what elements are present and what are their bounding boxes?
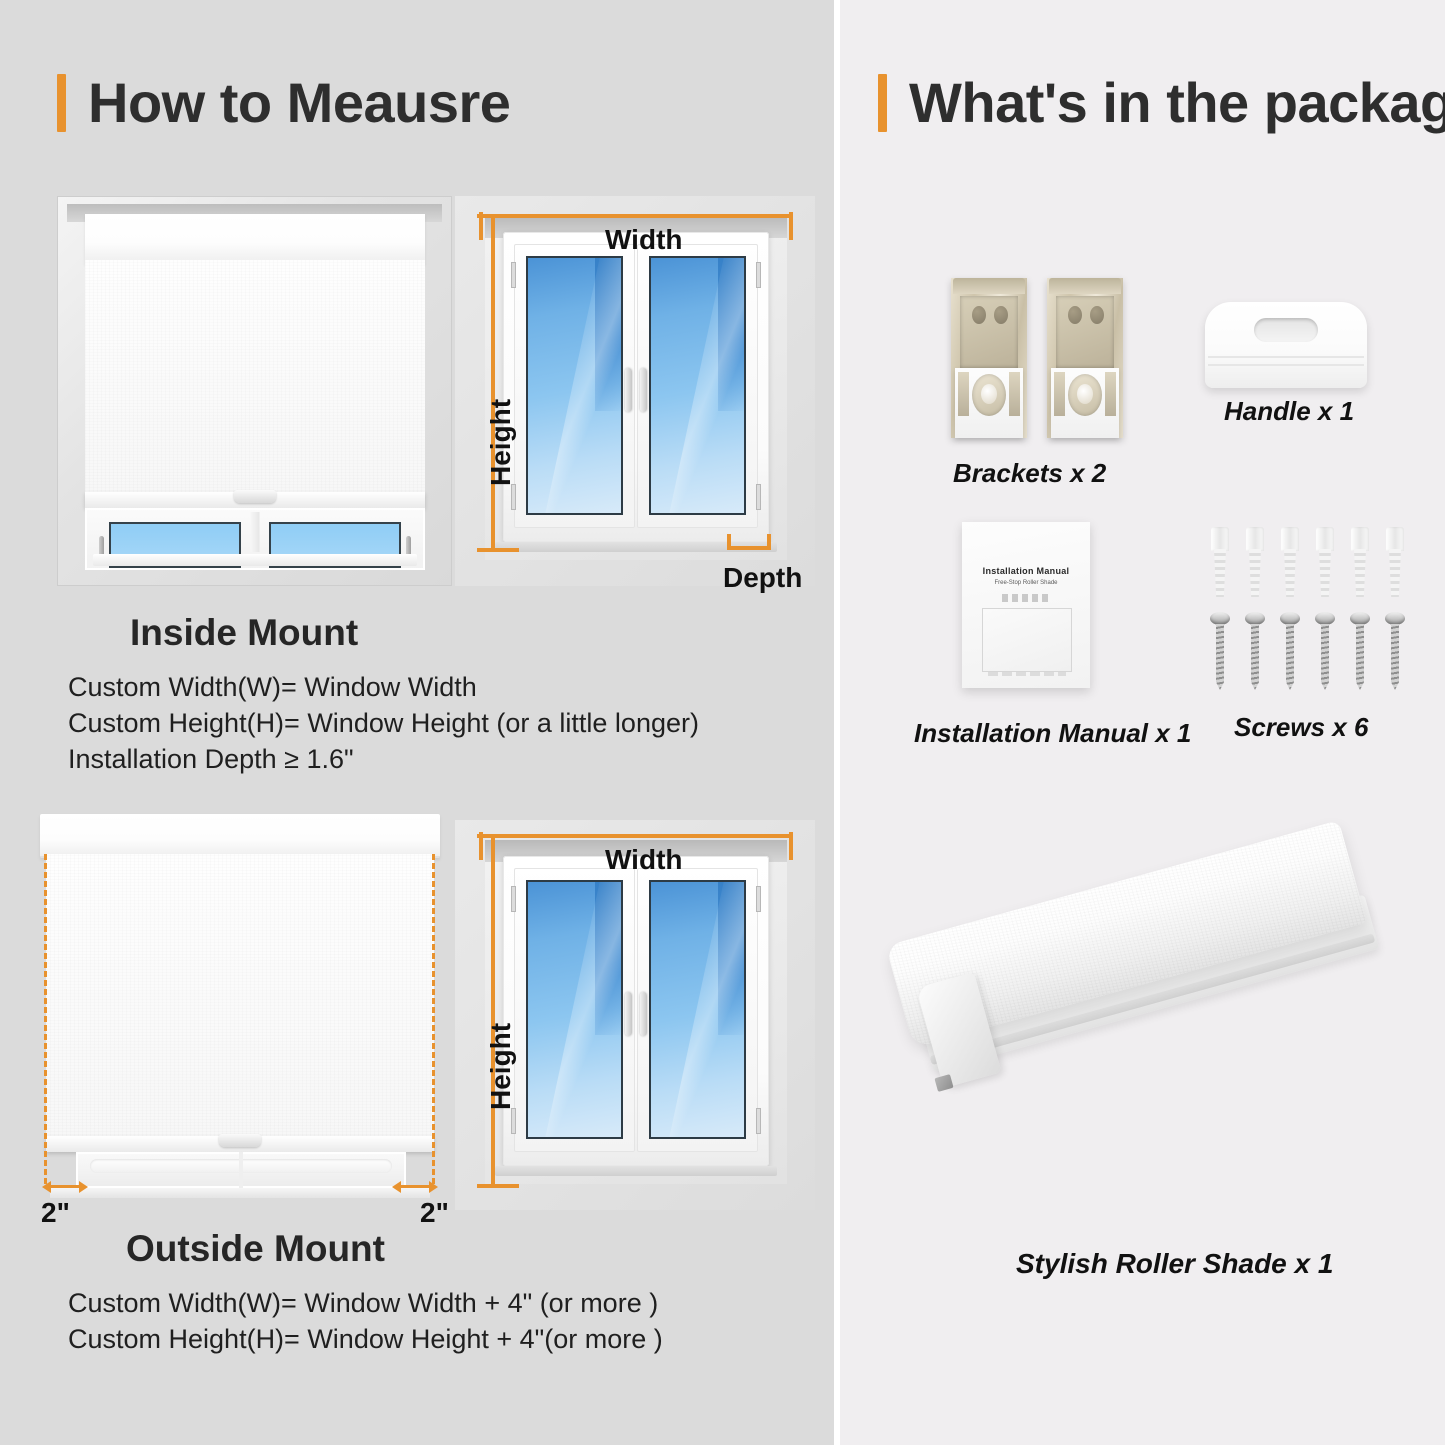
wall-anchor-icon-5 (1349, 527, 1371, 597)
window-handle-left-icon-2 (625, 992, 632, 1036)
height-measure-cap-top (477, 214, 519, 218)
wall-anchor-icon-4 (1314, 527, 1336, 597)
outside-window-mullion (239, 1152, 243, 1188)
infographic-page: How to Meausre (0, 0, 1445, 1445)
overhang-guide-left (44, 854, 47, 1184)
outside-window-ledge (50, 1188, 430, 1198)
manual-label: Installation Manual x 1 (914, 718, 1191, 749)
diagram-sash-left (514, 244, 635, 528)
diagram-window-frame (503, 232, 769, 542)
package-contents-panel: What's in the package (840, 0, 1445, 1445)
depth-measure-cap-inner (727, 534, 731, 550)
screw-icon-1 (1210, 612, 1230, 690)
manual-cover-footer (988, 672, 1066, 676)
diagram-glass-left-2 (526, 880, 623, 1139)
diagram-glass-right-2 (649, 880, 746, 1139)
handle-icon (1205, 302, 1367, 388)
diagram-sash-right-2 (637, 868, 758, 1152)
hinge-bottom-right-icon (756, 484, 761, 510)
overhang-label-right: 2" (420, 1197, 449, 1229)
screw-icon-2 (1245, 612, 1265, 690)
hinge-bottom-left-icon-2 (511, 1108, 516, 1134)
outside-mount-title: Outside Mount (126, 1228, 385, 1270)
height-measure-cap-top-2 (477, 834, 519, 838)
window-sill (93, 554, 417, 566)
outside-shade-headrail (40, 814, 440, 858)
diagram-window-frame-2 (503, 856, 769, 1166)
diagram-glass-right (649, 256, 746, 515)
outside-shade-fabric (46, 854, 434, 1138)
wall-anchor-icon-6 (1384, 527, 1406, 597)
diagram-glass-left (526, 256, 623, 515)
how-to-measure-panel: How to Meausre (0, 0, 834, 1445)
manual-cover-scribble (1002, 594, 1052, 602)
hinge-top-right-icon-2 (756, 886, 761, 912)
screw-icon-6 (1385, 612, 1405, 690)
outside-shade-pull-handle (219, 1134, 261, 1147)
manual-cover-illustration (982, 608, 1072, 672)
package-heading: What's in the package (878, 70, 1445, 135)
width-measure-cap-right (789, 212, 793, 240)
manual-cover-subtitle: Free-Stop Roller Shade (962, 580, 1090, 586)
inside-mount-spec-1: Custom Width(W)= Window Width (68, 670, 477, 706)
hinge-top-right-icon (756, 262, 761, 288)
hinge-top-left-icon (511, 262, 516, 288)
wall-anchor-icon-3 (1279, 527, 1301, 597)
overhang-label-left: 2" (41, 1197, 70, 1229)
wall-anchor-icon-2 (1244, 527, 1266, 597)
screw-icon-3 (1280, 612, 1300, 690)
diagram-window-handles-2 (625, 992, 647, 1036)
window-below-shade (85, 508, 425, 570)
diagram-sill-bar-2 (495, 1166, 777, 1176)
hinge-bottom-right-icon-2 (756, 1108, 761, 1134)
height-measure-cap-bottom-2 (477, 1184, 519, 1188)
shade-pull-handle (234, 490, 276, 503)
window-handle-left-icon (625, 368, 632, 412)
roller-shade-pin-tip (934, 1074, 953, 1092)
hinge-top-left-icon-2 (511, 886, 516, 912)
height-measure-cap-bottom (477, 548, 519, 552)
inside-mount-title: Inside Mount (130, 612, 358, 654)
overhang-arrow-left (42, 1180, 88, 1194)
bracket-icon-2 (1047, 278, 1123, 438)
width-measure-line (481, 214, 793, 218)
brackets-label: Brackets x 2 (953, 458, 1106, 489)
width-label-2: Width (605, 844, 683, 876)
diagram-sash-left-2 (514, 868, 635, 1152)
window-handle-right-icon (640, 368, 647, 412)
height-measure-line-2 (491, 836, 495, 1188)
outside-mount-spec-1: Custom Width(W)= Window Width + 4" (or m… (68, 1286, 658, 1322)
outside-mount-shade-illustration (40, 810, 440, 1200)
shade-headrail (85, 214, 425, 264)
package-title: What's in the package (909, 70, 1445, 135)
accent-bar-icon-2 (878, 74, 887, 132)
depth-measure-cap-outer (767, 534, 771, 550)
width-measure-line-2 (481, 834, 793, 838)
inside-mount-shade-illustration (57, 196, 452, 586)
how-to-measure-heading: How to Meausre (57, 70, 510, 135)
diagram-window-handles (625, 368, 647, 412)
handle-label: Handle x 1 (1224, 396, 1354, 427)
screw-icon-5 (1350, 612, 1370, 690)
height-label: Height (485, 399, 517, 486)
screw-icon-4 (1315, 612, 1335, 690)
roller-shade-label: Stylish Roller Shade x 1 (1016, 1248, 1333, 1280)
height-measure-line (491, 216, 495, 550)
bracket-icon-1 (951, 278, 1027, 438)
how-to-measure-title: How to Meausre (88, 70, 510, 135)
height-label-2: Height (485, 1023, 517, 1110)
inside-mount-spec-3: Installation Depth ≥ 1.6" (68, 742, 354, 778)
diagram-sash-right (637, 244, 758, 528)
inside-mount-spec-2: Custom Height(H)= Window Height (or a li… (68, 706, 699, 742)
manual-cover-title: Installation Manual (962, 566, 1090, 576)
width-label: Width (605, 224, 683, 256)
roller-shade-icon (906, 880, 1438, 1210)
hinge-bottom-left-icon (511, 484, 516, 510)
window-handle-right-icon-2 (640, 992, 647, 1036)
outside-mount-measure-diagram: Width Height (455, 820, 815, 1210)
inside-mount-measure-diagram: Width Height Depth (455, 196, 815, 586)
outside-window-frame (76, 1152, 406, 1188)
manual-icon: Installation Manual Free-Stop Roller Sha… (962, 522, 1090, 688)
accent-bar-icon (57, 74, 66, 132)
width-measure-cap-right-2 (789, 832, 793, 860)
overhang-guide-right (432, 854, 435, 1184)
overhang-arrow-right (392, 1180, 438, 1194)
depth-measure-line (727, 546, 771, 550)
wall-anchor-icon-1 (1209, 527, 1231, 597)
shade-fabric (85, 260, 425, 494)
window-mullion (251, 512, 260, 552)
depth-label: Depth (723, 562, 802, 594)
outside-mount-spec-2: Custom Height(H)= Window Height + 4"(or … (68, 1322, 663, 1358)
screws-label: Screws x 6 (1234, 712, 1368, 743)
